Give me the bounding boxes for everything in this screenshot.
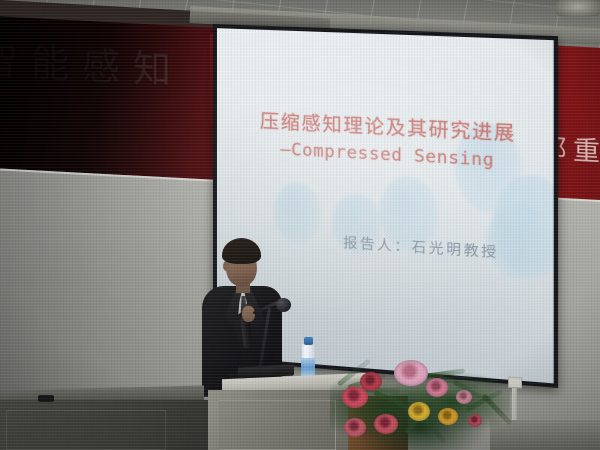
gooseneck-microphone-head bbox=[276, 298, 291, 312]
presenter-hair bbox=[222, 238, 261, 264]
flower-center-bud-pink bbox=[473, 418, 477, 421]
desk-object bbox=[38, 395, 54, 402]
water-bottle-cap bbox=[304, 337, 313, 345]
flower-center-gerbera-coral bbox=[383, 421, 389, 426]
flower-arrangement bbox=[330, 356, 510, 450]
left-desk-panel bbox=[6, 410, 166, 450]
flower-center-lily-pink bbox=[406, 369, 415, 376]
ceiling-light-fixture bbox=[556, 0, 600, 16]
podium-panel bbox=[218, 400, 336, 450]
lecture-hall-photo: 智能感知 邓重 压缩感知理论及其研究进展 —Compressed Sensing… bbox=[0, 0, 600, 450]
wall-outlet bbox=[508, 377, 522, 388]
